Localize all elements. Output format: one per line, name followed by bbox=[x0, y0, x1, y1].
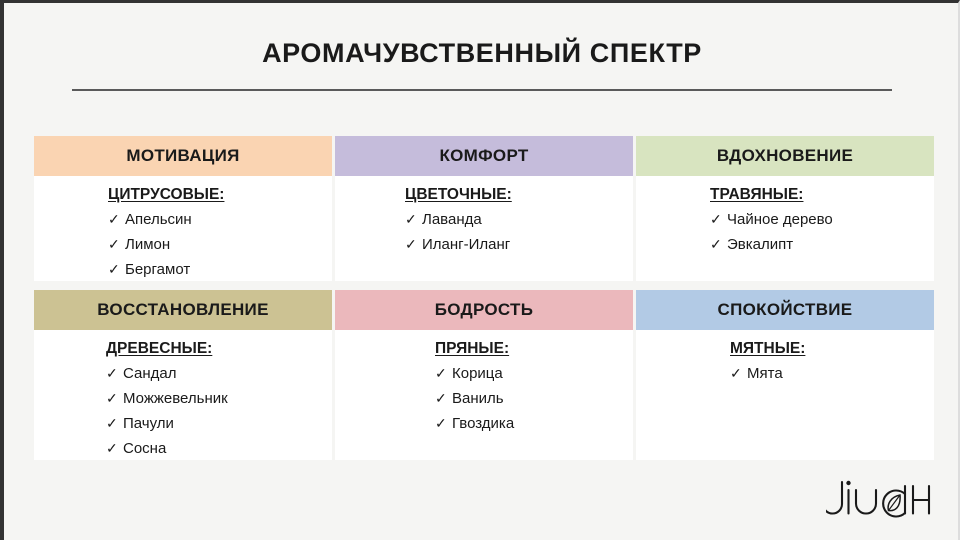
item-list-comfort: ✓Лаванда ✓Иланг-Иланг bbox=[335, 207, 633, 257]
card-subtitle-vigor: ПРЯНЫЕ: bbox=[335, 340, 633, 358]
check-icon: ✓ bbox=[106, 361, 123, 385]
check-icon: ✓ bbox=[106, 411, 123, 435]
card-header-motivation: МОТИВАЦИЯ bbox=[34, 136, 332, 176]
card-body-motivation: ЦИТРУСОВЫЕ: ✓Апельсин ✓Лимон ✓Бергамот bbox=[34, 176, 332, 281]
item-label: Сосна bbox=[123, 437, 166, 461]
list-item: ✓Чайное дерево bbox=[710, 207, 934, 232]
list-item: ✓Эвкалипт bbox=[710, 232, 934, 257]
list-item: ✓Иланг-Иланг bbox=[405, 232, 633, 257]
item-label: Лимон bbox=[125, 233, 170, 257]
title-block: АРОМАЧУВСТВЕННЫЙ СПЕКТР bbox=[4, 39, 960, 69]
card-header-calm: СПОКОЙСТВИЕ bbox=[636, 290, 934, 330]
check-icon: ✓ bbox=[435, 361, 452, 385]
check-icon: ✓ bbox=[108, 232, 125, 256]
card-header-recovery: ВОССТАНОВЛЕНИЕ bbox=[34, 290, 332, 330]
card-subtitle-motivation: ЦИТРУСОВЫЕ: bbox=[34, 186, 332, 204]
item-label: Корица bbox=[452, 362, 503, 386]
list-item: ✓Гвоздика bbox=[435, 411, 633, 436]
juah-leaf-logo bbox=[826, 476, 936, 528]
card-body-recovery: ДРЕВЕСНЫЕ: ✓Сандал ✓Можжевельник ✓Пачули… bbox=[34, 330, 332, 460]
item-label: Сандал bbox=[123, 362, 176, 386]
item-label: Лаванда bbox=[422, 208, 482, 232]
item-label: Можжевельник bbox=[123, 387, 228, 411]
check-icon: ✓ bbox=[405, 207, 422, 231]
card-body-vigor: ПРЯНЫЕ: ✓Корица ✓Ваниль ✓Гвоздика bbox=[335, 330, 633, 460]
card-subtitle-recovery: ДРЕВЕСНЫЕ: bbox=[34, 340, 332, 358]
check-icon: ✓ bbox=[435, 386, 452, 410]
card-body-inspiration: ТРАВЯНЫЕ: ✓Чайное дерево ✓Эвкалипт bbox=[636, 176, 934, 281]
card-vigor[interactable]: БОДРОСТЬ ПРЯНЫЕ: ✓Корица ✓Ваниль ✓Гвозди… bbox=[335, 290, 633, 460]
list-item: ✓Сосна bbox=[106, 436, 332, 461]
card-row-top: МОТИВАЦИЯ ЦИТРУСОВЫЕ: ✓Апельсин ✓Лимон ✓… bbox=[34, 136, 934, 281]
item-label: Чайное дерево bbox=[727, 208, 833, 232]
item-label: Иланг-Иланг bbox=[422, 233, 510, 257]
card-motivation[interactable]: МОТИВАЦИЯ ЦИТРУСОВЫЕ: ✓Апельсин ✓Лимон ✓… bbox=[34, 136, 332, 281]
check-icon: ✓ bbox=[106, 386, 123, 410]
card-subtitle-inspiration: ТРАВЯНЫЕ: bbox=[636, 186, 934, 204]
check-icon: ✓ bbox=[108, 207, 125, 231]
card-recovery[interactable]: ВОССТАНОВЛЕНИЕ ДРЕВЕСНЫЕ: ✓Сандал ✓Можже… bbox=[34, 290, 332, 460]
check-icon: ✓ bbox=[710, 232, 727, 256]
item-label: Мята bbox=[747, 362, 783, 386]
item-label: Апельсин bbox=[125, 208, 192, 232]
card-header-inspiration: ВДОХНОВЕНИЕ bbox=[636, 136, 934, 176]
item-label: Бергамот bbox=[125, 258, 190, 282]
list-item: ✓Пачули bbox=[106, 411, 332, 436]
list-item: ✓Мята bbox=[730, 361, 934, 386]
card-subtitle-calm: МЯТНЫЕ: bbox=[636, 340, 934, 358]
list-item: ✓Апельсин bbox=[108, 207, 332, 232]
card-subtitle-comfort: ЦВЕТОЧНЫЕ: bbox=[335, 186, 633, 204]
item-list-vigor: ✓Корица ✓Ваниль ✓Гвоздика bbox=[335, 361, 633, 436]
list-item: ✓Лимон bbox=[108, 232, 332, 257]
card-grid: МОТИВАЦИЯ ЦИТРУСОВЫЕ: ✓Апельсин ✓Лимон ✓… bbox=[34, 136, 934, 469]
item-list-recovery: ✓Сандал ✓Можжевельник ✓Пачули ✓Сосна bbox=[34, 361, 332, 461]
card-body-calm: МЯТНЫЕ: ✓Мята bbox=[636, 330, 934, 460]
card-row-bottom: ВОССТАНОВЛЕНИЕ ДРЕВЕСНЫЕ: ✓Сандал ✓Можже… bbox=[34, 290, 934, 460]
list-item: ✓Лаванда bbox=[405, 207, 633, 232]
check-icon: ✓ bbox=[108, 257, 125, 281]
check-icon: ✓ bbox=[730, 361, 747, 385]
item-list-inspiration: ✓Чайное дерево ✓Эвкалипт bbox=[636, 207, 934, 257]
item-label: Гвоздика bbox=[452, 412, 514, 436]
item-list-calm: ✓Мята bbox=[636, 361, 934, 386]
slide-canvas: АРОМАЧУВСТВЕННЫЙ СПЕКТР МОТИВАЦИЯ ЦИТРУС… bbox=[0, 0, 960, 540]
card-header-comfort: КОМФОРТ bbox=[335, 136, 633, 176]
check-icon: ✓ bbox=[106, 436, 123, 460]
list-item: ✓Ваниль bbox=[435, 386, 633, 411]
card-calm[interactable]: СПОКОЙСТВИЕ МЯТНЫЕ: ✓Мята bbox=[636, 290, 934, 460]
card-inspiration[interactable]: ВДОХНОВЕНИЕ ТРАВЯНЫЕ: ✓Чайное дерево ✓Эв… bbox=[636, 136, 934, 281]
check-icon: ✓ bbox=[405, 232, 422, 256]
check-icon: ✓ bbox=[435, 411, 452, 435]
list-item: ✓Можжевельник bbox=[106, 386, 332, 411]
check-icon: ✓ bbox=[710, 207, 727, 231]
item-list-motivation: ✓Апельсин ✓Лимон ✓Бергамот bbox=[34, 207, 332, 282]
card-header-vigor: БОДРОСТЬ bbox=[335, 290, 633, 330]
title-divider bbox=[72, 89, 892, 91]
card-comfort[interactable]: КОМФОРТ ЦВЕТОЧНЫЕ: ✓Лаванда ✓Иланг-Иланг bbox=[335, 136, 633, 281]
list-item: ✓Корица bbox=[435, 361, 633, 386]
page-title: АРОМАЧУВСТВЕННЫЙ СПЕКТР bbox=[4, 39, 960, 69]
list-item: ✓Бергамот bbox=[108, 257, 332, 282]
card-body-comfort: ЦВЕТОЧНЫЕ: ✓Лаванда ✓Иланг-Иланг bbox=[335, 176, 633, 281]
item-label: Эвкалипт bbox=[727, 233, 793, 257]
item-label: Ваниль bbox=[452, 387, 504, 411]
list-item: ✓Сандал bbox=[106, 361, 332, 386]
item-label: Пачули bbox=[123, 412, 174, 436]
